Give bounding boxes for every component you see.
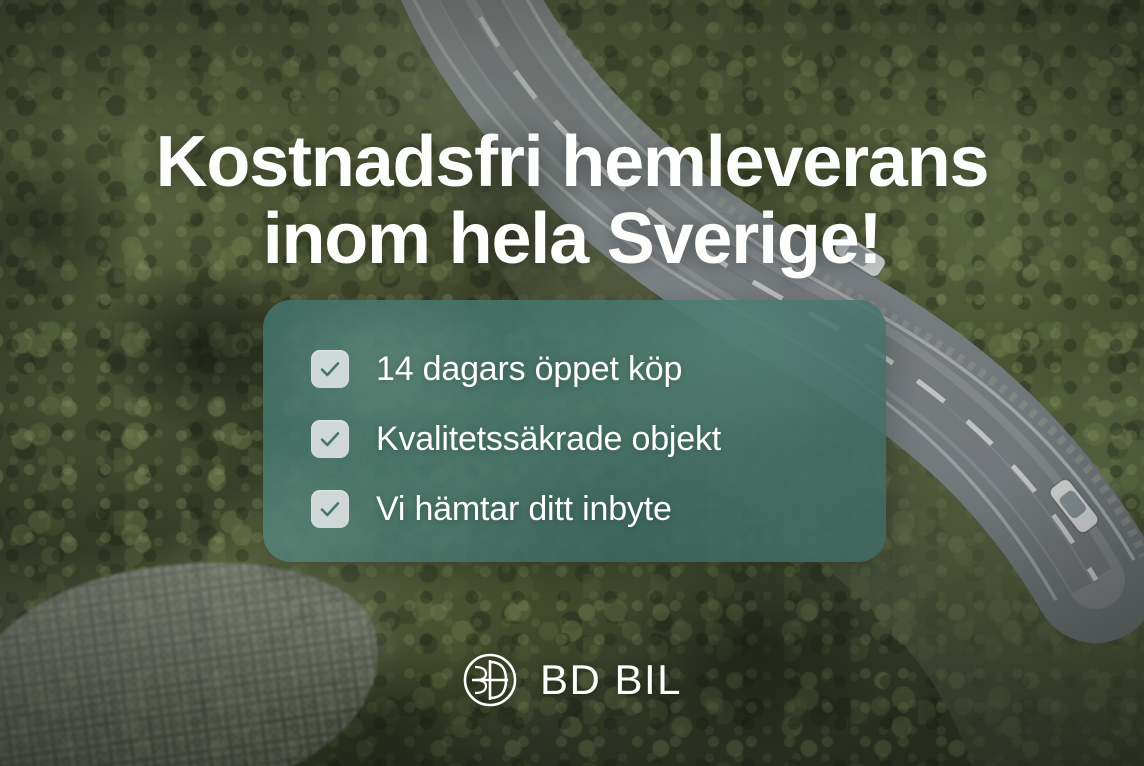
list-item: 14 dagars öppet köp <box>311 338 886 400</box>
features-list: 14 dagars öppet köp Kvalitetssäkrade obj… <box>263 300 886 540</box>
feature-label: 14 dagars öppet köp <box>376 350 682 389</box>
checkbox-checked-icon[interactable] <box>311 490 349 528</box>
brand-wordmark: BD BIL <box>540 659 682 701</box>
features-card: 14 dagars öppet köp Kvalitetssäkrade obj… <box>263 300 886 562</box>
headline-line-1: Kostnadsfri hemleverans <box>40 124 1104 201</box>
checkbox-checked-icon[interactable] <box>311 420 349 458</box>
feature-label: Kvalitetssäkrade objekt <box>376 420 721 459</box>
list-item: Kvalitetssäkrade objekt <box>311 408 886 470</box>
promo-banner: Kostnadsfri hemleverans inom hela Sverig… <box>0 0 1144 766</box>
brand-logo[interactable]: BD BIL <box>0 652 1144 708</box>
bd-monogram-circle-icon <box>462 652 518 708</box>
list-item: Vi hämtar ditt inbyte <box>311 478 886 540</box>
feature-label: Vi hämtar ditt inbyte <box>376 490 672 529</box>
headline-line-2: inom hela Sverige! <box>40 201 1104 278</box>
checkbox-checked-icon[interactable] <box>311 350 349 388</box>
page-title: Kostnadsfri hemleverans inom hela Sverig… <box>0 124 1144 278</box>
